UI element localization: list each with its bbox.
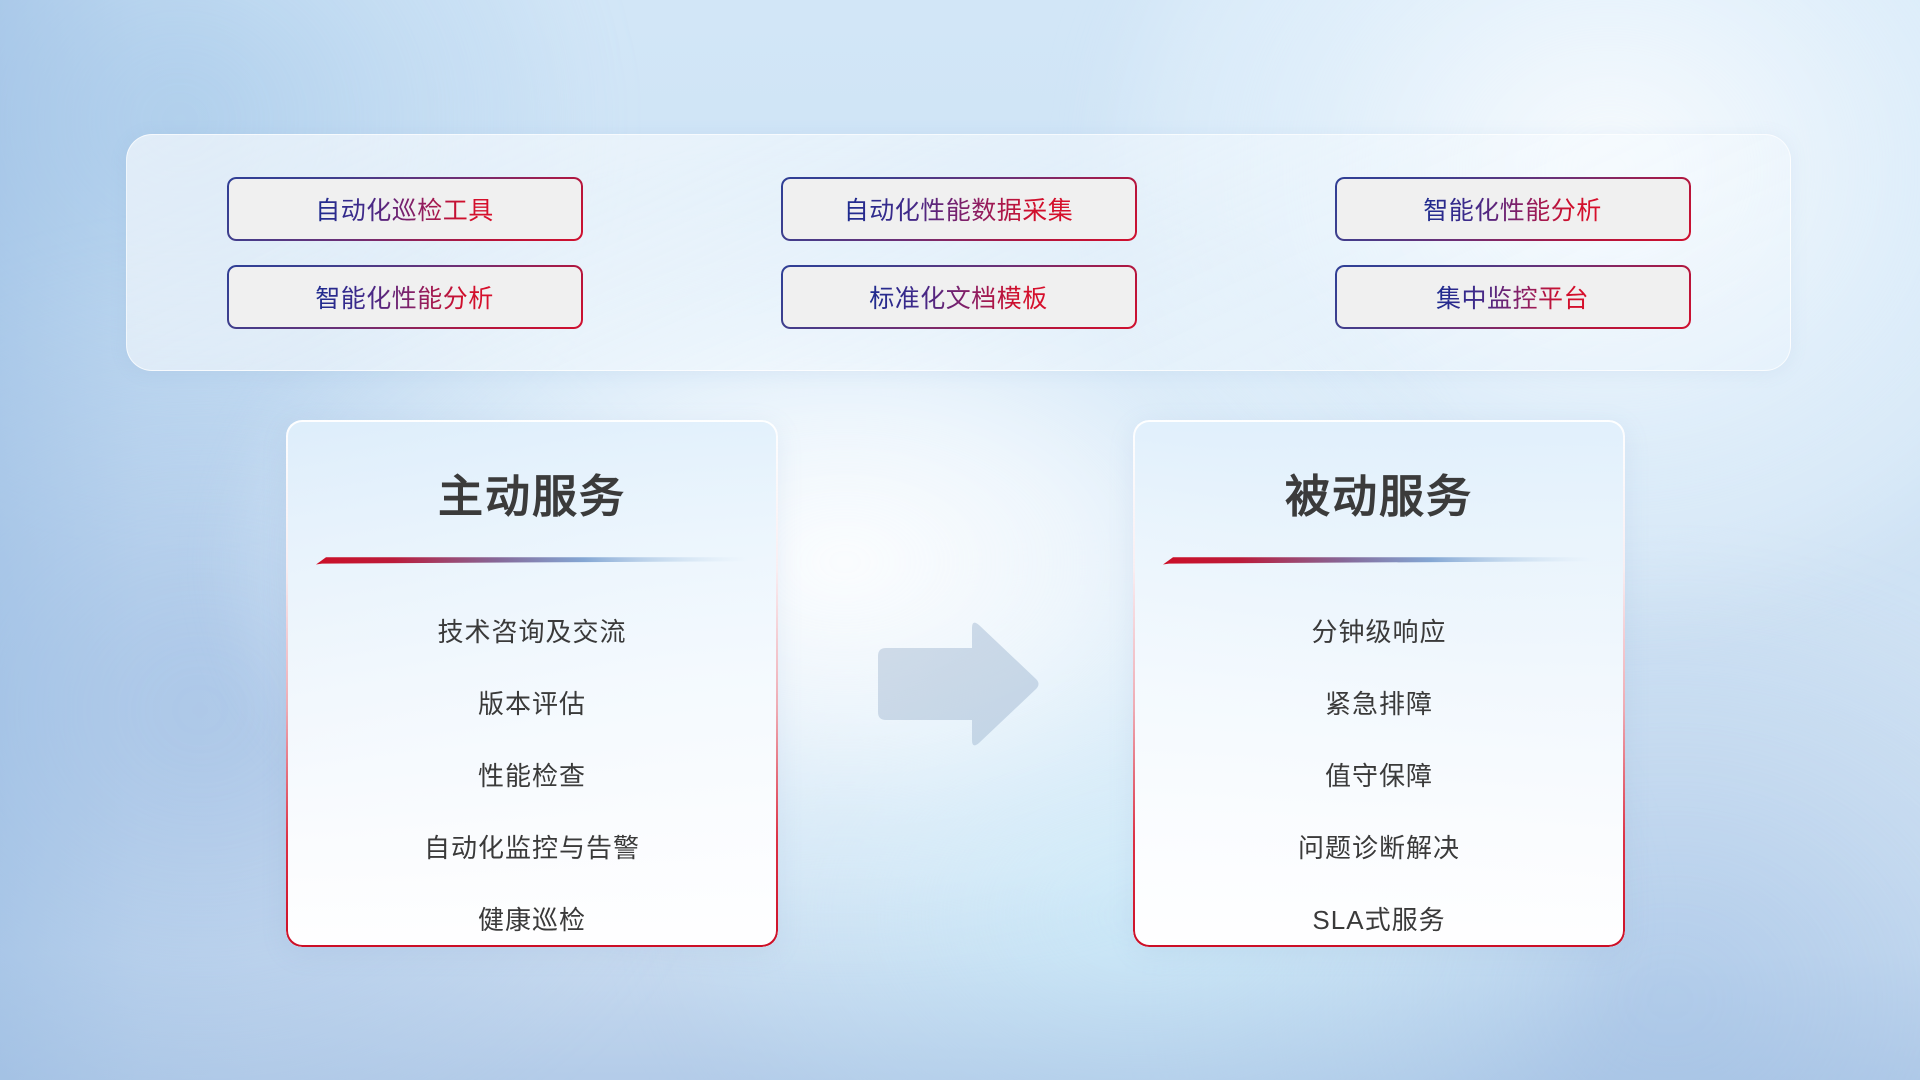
capability-pill-intelligent-performance-analysis-2[interactable]: 智能化性能分析 — [227, 265, 583, 329]
card-divider — [316, 555, 748, 566]
capability-pill-label: 集中监控平台 — [1436, 279, 1589, 315]
capability-panel: 自动化巡检工具 自动化性能数据采集 智能化性能分析 智能化性能分析 标准化文档模… — [126, 134, 1791, 371]
capability-pill-label: 标准化文档模板 — [869, 279, 1048, 315]
service-card-reactive[interactable]: 被动服务 分钟级响应 紧急排障 值守保障 — [1133, 420, 1625, 947]
slide-canvas: 自动化巡检工具 自动化性能数据采集 智能化性能分析 智能化性能分析 标准化文档模… — [0, 0, 1920, 1080]
list-item[interactable]: SLA式服务 — [1312, 884, 1445, 947]
capability-pill-automation-inspection-tool[interactable]: 自动化巡检工具 — [227, 177, 583, 241]
list-item[interactable]: 性能检查 — [478, 740, 586, 812]
capability-pill-label: 自动化巡检工具 — [315, 191, 494, 227]
capability-pill-standard-doc-template[interactable]: 标准化文档模板 — [781, 265, 1137, 329]
capability-pill-centralized-monitoring-platform[interactable]: 集中监控平台 — [1335, 265, 1691, 329]
arrow-right-icon — [872, 620, 1042, 746]
capability-pill-intelligent-performance-analysis[interactable]: 智能化性能分析 — [1335, 177, 1691, 241]
list-item[interactable]: 紧急排障 — [1325, 668, 1433, 740]
list-item[interactable]: 版本评估 — [478, 668, 586, 740]
capability-row-2: 智能化性能分析 标准化文档模板 集中监控平台 — [127, 265, 1790, 329]
service-card-title: 主动服务 — [286, 460, 778, 525]
list-item[interactable]: 分钟级响应 — [1311, 596, 1446, 668]
capability-pill-label: 智能化性能分析 — [1423, 191, 1602, 227]
list-item[interactable]: 值守保障 — [1325, 740, 1433, 812]
list-item[interactable]: 自动化监控与告警 — [424, 812, 640, 884]
list-item[interactable]: 技术咨询及交流 — [437, 596, 626, 668]
capability-pill-automation-performance-collection[interactable]: 自动化性能数据采集 — [781, 177, 1137, 241]
service-card-title: 被动服务 — [1133, 460, 1625, 525]
service-card-item-list: 技术咨询及交流 版本评估 性能检查 自动化监控与告警 健康巡检 — [286, 596, 778, 947]
capability-row-1: 自动化巡检工具 自动化性能数据采集 智能化性能分析 — [127, 177, 1790, 241]
list-item[interactable]: 健康巡检 — [478, 884, 586, 947]
list-item[interactable]: 问题诊断解决 — [1298, 812, 1460, 884]
capability-pill-label: 自动化性能数据采集 — [844, 191, 1074, 227]
service-card-proactive[interactable]: 主动服务 技术咨询及交流 版本评估 性能检查 — [286, 420, 778, 947]
card-divider — [1163, 555, 1595, 566]
capability-pill-label: 智能化性能分析 — [315, 279, 494, 315]
service-card-item-list: 分钟级响应 紧急排障 值守保障 问题诊断解决 SLA式服务 — [1133, 596, 1625, 947]
